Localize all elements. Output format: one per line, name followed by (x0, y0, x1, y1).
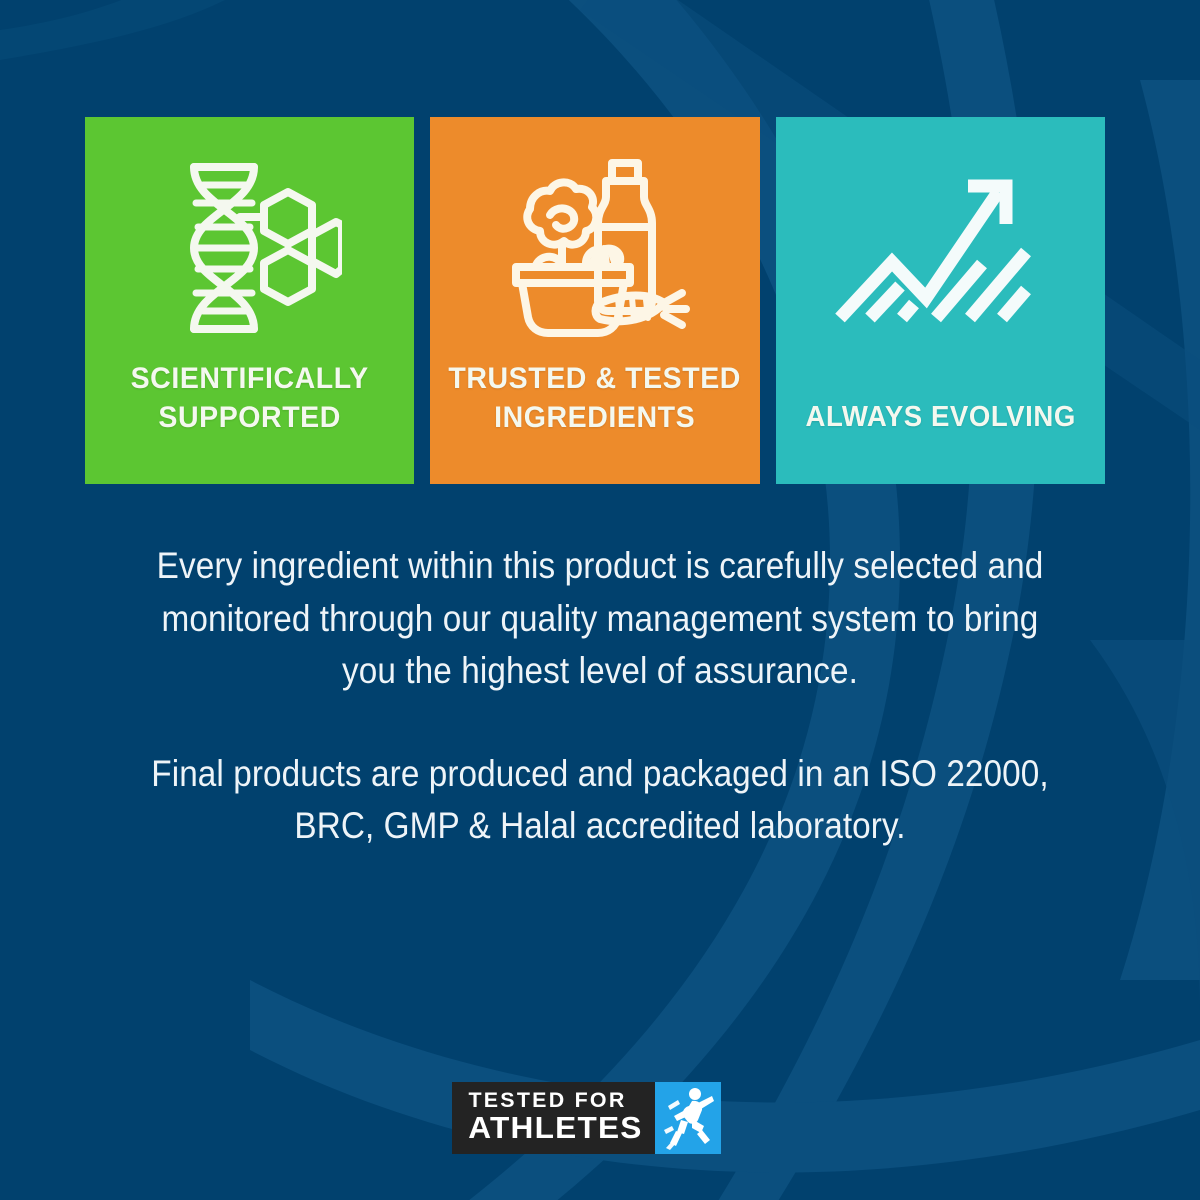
feature-tile-label-line1: TRUSTED & TESTED (439, 359, 752, 398)
feature-tile-label-line1: SCIENTIFICALLY (93, 359, 406, 398)
badge-line-athletes: ATHLETES (468, 1112, 642, 1145)
tested-for-athletes-badge[interactable]: TESTED FOR ATHLETES (452, 1082, 721, 1154)
feature-tile-trusted-tested-ingredients[interactable]: TRUSTED & TESTED INGREDIENTS (430, 117, 759, 484)
copy-spacer (150, 698, 1050, 748)
feature-tile-always-evolving[interactable]: ALWAYS EVOLVING (776, 117, 1105, 484)
vegetable-bowl-bottle-icon (500, 153, 690, 343)
badge-line-tested-for: TESTED FOR (468, 1090, 626, 1112)
feature-tile-row: SCIENTIFICALLY SUPPORTED (85, 117, 1105, 484)
copy-paragraph-accreditation: Final products are produced and packaged… (150, 748, 1050, 853)
badge-text-block: TESTED FOR ATHLETES (452, 1082, 655, 1154)
feature-tile-label-line2: SUPPORTED (93, 398, 406, 437)
dna-hexagon-icon (158, 153, 342, 343)
running-athlete-icon (655, 1082, 721, 1154)
feature-tile-label-line1: ALWAYS EVOLVING (784, 399, 1097, 437)
promo-graphic: SCIENTIFICALLY SUPPORTED (0, 0, 1200, 1200)
feature-tile-label: SCIENTIFICALLY SUPPORTED (93, 359, 406, 437)
copy-paragraph-quality: Every ingredient within this product is … (150, 540, 1050, 698)
feature-tile-scientifically-supported[interactable]: SCIENTIFICALLY SUPPORTED (85, 117, 414, 484)
body-copy: Every ingredient within this product is … (150, 540, 1050, 853)
feature-tile-label-line2: INGREDIENTS (439, 398, 752, 437)
feature-tile-label: ALWAYS EVOLVING (784, 399, 1097, 437)
feature-tile-label: TRUSTED & TESTED INGREDIENTS (439, 359, 752, 437)
growth-arrow-chart-icon (830, 153, 1050, 343)
